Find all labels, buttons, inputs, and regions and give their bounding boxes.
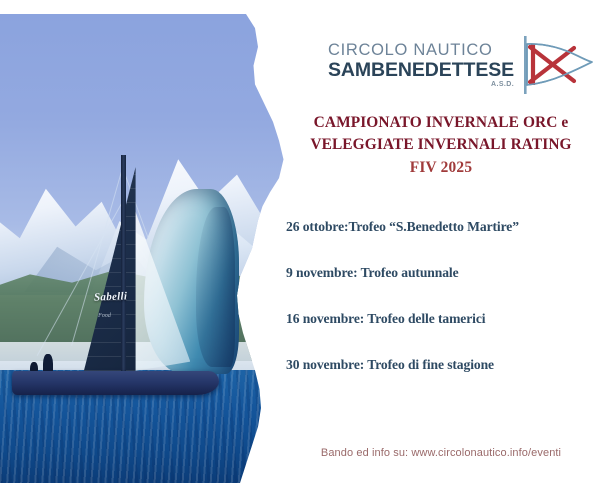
main-sail: [84, 167, 136, 371]
footer: Bando ed info su: www.circolonautico.inf…: [282, 447, 600, 459]
sailboat: Sabelli Food: [6, 155, 294, 465]
footer-info-url: Bando ed info su: www.circolonautico.inf…: [282, 447, 600, 459]
event-list-item: 9 novembre: Trofeo autunnale: [282, 250, 600, 296]
sail-brand-text: Sabelli: [94, 290, 128, 303]
content-column: CIRCOLO NAUTICO SAMBENEDETTESE A.S.D.: [282, 0, 600, 503]
photo-inner: Sabelli Food: [0, 14, 300, 483]
boat-hull: [12, 371, 219, 394]
club-name-line1: CIRCOLO NAUTICO: [328, 42, 514, 60]
burgee-flag-icon: [518, 34, 594, 96]
event-title-line2: VELEGGIATE INVERNALI RATING: [282, 134, 600, 156]
event-title-line3: FIV 2025: [282, 156, 600, 179]
club-name-line2: SAMBENEDETTESE: [328, 60, 514, 80]
event-title: CAMPIONATO INVERNALE ORC e VELEGGIATE IN…: [282, 112, 600, 179]
event-list-item: 16 novembre: Trofeo delle tamerici: [282, 296, 600, 342]
mast: [121, 155, 126, 372]
spinnaker-shadow: [196, 207, 236, 367]
event-title-line1: CAMPIONATO INVERNALE ORC e: [282, 112, 600, 134]
event-list-item: 26 ottobre:Trofeo “S.Benedetto Martire”: [282, 204, 600, 250]
club-logo-text: CIRCOLO NAUTICO SAMBENEDETTESE A.S.D.: [328, 42, 514, 88]
event-schedule-list: 26 ottobre:Trofeo “S.Benedetto Martire” …: [282, 204, 600, 388]
event-list-item: 30 novembre: Trofeo di fine stagione: [282, 342, 600, 388]
poster-canvas: Sabelli Food CIRCOLO NAUTICO SAMBENEDETT…: [0, 0, 600, 503]
sail-brand-subtext: Food: [98, 313, 111, 319]
sailboat-photo: Sabelli Food: [0, 14, 300, 483]
sail-batten-stripes: [84, 167, 136, 371]
club-logo: CIRCOLO NAUTICO SAMBENEDETTESE A.S.D.: [282, 34, 600, 96]
club-legal-suffix: A.S.D.: [328, 81, 514, 88]
